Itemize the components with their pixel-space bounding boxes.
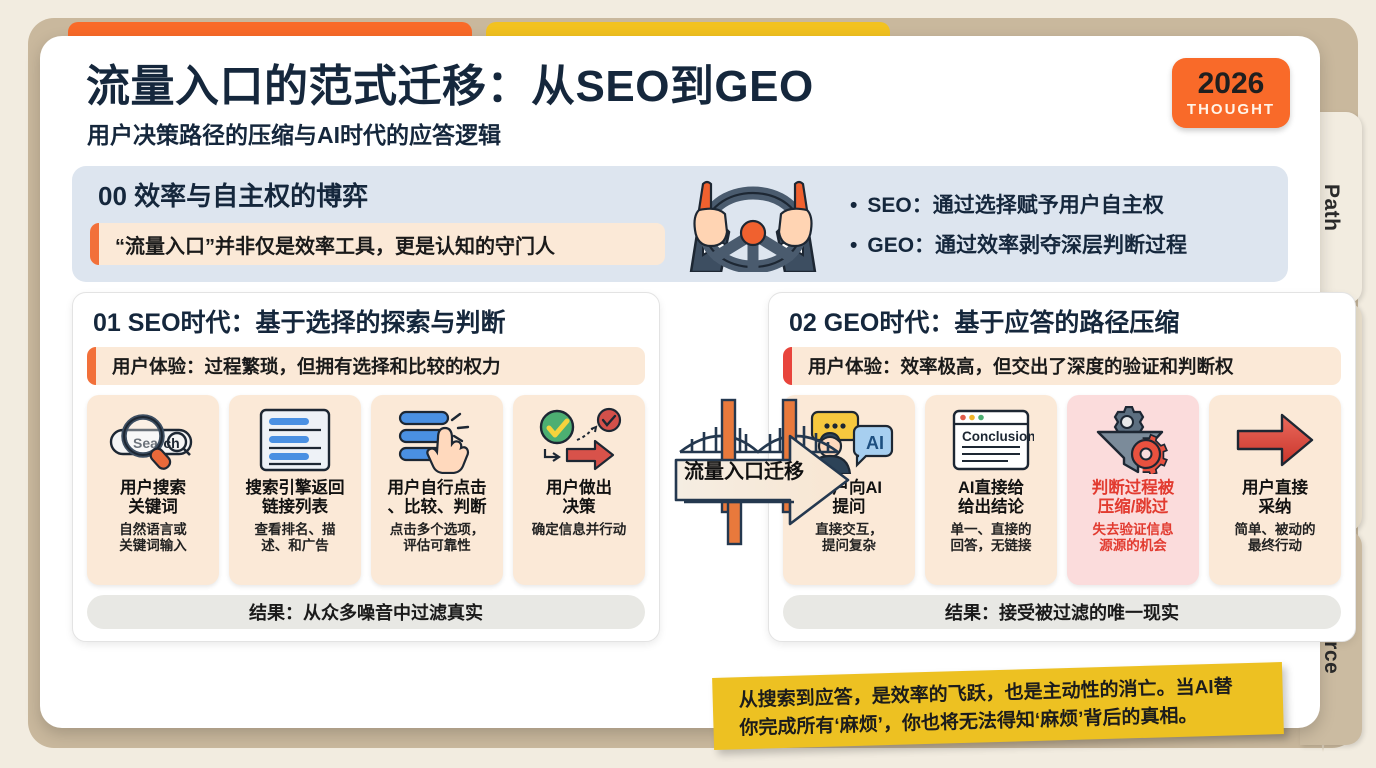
card-user-search[interactable]: Search 用户搜索关键词 自然语言或关键词输入 bbox=[87, 395, 219, 585]
click-hand-icon bbox=[394, 403, 480, 477]
card-desc: 简单、被动的最终行动 bbox=[1235, 522, 1316, 554]
search-magnifier-icon: Search bbox=[107, 403, 199, 477]
section-00-bullets: SEO：通过选择赋予用户自主权 GEO：通过效率剥夺深层判断过程 bbox=[840, 176, 1270, 272]
card-title: 用户做出决策 bbox=[546, 479, 612, 518]
section-02-title: 02 GEO时代：基于应答的路径压缩 bbox=[783, 303, 1341, 339]
badge-word: THOUGHT bbox=[1187, 101, 1275, 118]
section-01-title: 01 SEO时代：基于选择的探索与判断 bbox=[87, 303, 645, 339]
accent-bar bbox=[90, 223, 99, 265]
card-title: 用户直接采纳 bbox=[1242, 479, 1308, 518]
section-00: 00 效率与自主权的博弈 “流量入口”并非仅是效率工具，更是认知的守门人 bbox=[72, 166, 1288, 282]
year-badge: 2026 THOUGHT bbox=[1172, 58, 1290, 128]
transition-label: 流量入口迁移 bbox=[684, 455, 804, 484]
svg-text:Conclusion: Conclusion bbox=[962, 429, 1034, 444]
section-02-geo: 02 GEO时代：基于应答的路径压缩 用户体验：效率极高，但交出了深度的验证和判… bbox=[768, 292, 1356, 642]
badge-year: 2026 bbox=[1198, 69, 1265, 99]
card-judgment-compressed[interactable]: 判断过程被压缩/跳过 失去验证信息源源的机会 bbox=[1067, 395, 1199, 585]
section-01-result: 结果：从众多噪音中过滤真实 bbox=[87, 595, 645, 629]
check-arrow-icon bbox=[533, 403, 625, 477]
card-desc: 确定信息并行动 bbox=[532, 522, 627, 538]
card-desc: 查看排名、描述、和广告 bbox=[255, 522, 336, 554]
card-user-click-compare[interactable]: 用户自行点击、比较、判断 点击多个选项，评估可靠性 bbox=[371, 395, 503, 585]
card-results-list[interactable]: 搜索引擎返回链接列表 查看排名、描述、和广告 bbox=[229, 395, 361, 585]
card-ask-ai[interactable]: AI 用户向AI提问 直接交互，提问复杂 bbox=[783, 395, 915, 585]
section-02-highlight-text: 用户体验：效率极高，但交出了深度的验证和判断权 bbox=[792, 353, 1250, 379]
card-desc: 自然语言或关键词输入 bbox=[119, 522, 187, 554]
section-00-highlight-text: “流量入口”并非仅是效率工具，更是认知的守门人 bbox=[99, 230, 571, 259]
results-list-icon bbox=[253, 403, 337, 477]
section-00-highlight: “流量入口”并非仅是效率工具，更是认知的守门人 bbox=[90, 223, 665, 265]
section-01-seo: 01 SEO时代：基于选择的探索与判断 用户体验：过程繁琐，但拥有选择和比较的权… bbox=[72, 292, 660, 642]
section-01-highlight: 用户体验：过程繁琐，但拥有选择和比较的权力 bbox=[87, 347, 645, 385]
page-subtitle: 用户决策路径的压缩与AI时代的应答逻辑 bbox=[64, 111, 1296, 150]
section-01-highlight-text: 用户体验：过程繁琐，但拥有选择和比较的权力 bbox=[96, 353, 517, 379]
card-title: AI直接给给出结论 bbox=[958, 479, 1024, 518]
section-02-cards: AI 用户向AI提问 直接交互，提问复杂 bbox=[783, 395, 1341, 585]
red-arrow-icon bbox=[1232, 403, 1318, 477]
section-02-result: 结果：接受被过滤的唯一现实 bbox=[783, 595, 1341, 629]
accent-bar bbox=[783, 347, 792, 385]
section-02-highlight: 用户体验：效率极高，但交出了深度的验证和判断权 bbox=[783, 347, 1341, 385]
page-header: 流量入口的范式迁移：从SEO到GEO 用户决策路径的压缩与AI时代的应答逻辑 2… bbox=[64, 54, 1296, 162]
card-user-adopts[interactable]: 用户直接采纳 简单、被动的最终行动 bbox=[1209, 395, 1341, 585]
card-desc: 直接交互，提问复杂 bbox=[815, 522, 883, 554]
page-title: 流量入口的范式迁移：从SEO到GEO bbox=[64, 54, 1296, 111]
slide-page: 流量入口的范式迁移：从SEO到GEO 用户决策路径的压缩与AI时代的应答逻辑 2… bbox=[40, 36, 1320, 728]
card-user-decision[interactable]: 用户做出决策 确定信息并行动 bbox=[513, 395, 645, 585]
card-title: 用户搜索关键词 bbox=[120, 479, 186, 518]
card-desc: 失去验证信息源源的机会 bbox=[1093, 522, 1174, 554]
section-00-title: 00 效率与自主权的博弈 bbox=[90, 176, 665, 213]
conclusion-doc-icon: Conclusion bbox=[948, 403, 1034, 477]
section-00-bullet-geo: GEO：通过效率剥夺深层判断过程 bbox=[850, 229, 1270, 259]
funnel-gears-icon bbox=[1090, 403, 1176, 477]
section-00-left: 00 效率与自主权的博弈 “流量入口”并非仅是效率工具，更是认知的守门人 bbox=[90, 176, 665, 272]
card-desc: 单一、直接的回答，无链接 bbox=[951, 522, 1032, 554]
section-01-cards: Search 用户搜索关键词 自然语言或关键词输入 bbox=[87, 395, 645, 585]
card-desc: 点击多个选项，评估可靠性 bbox=[390, 522, 485, 554]
card-ai-conclusion[interactable]: Conclusion AI直接给给出结论 单一、直接的回答，无链接 bbox=[925, 395, 1057, 585]
steering-wheel-icon bbox=[673, 176, 833, 272]
comparison-columns: 01 SEO时代：基于选择的探索与判断 用户体验：过程繁琐，但拥有选择和比较的权… bbox=[72, 292, 1288, 642]
card-title: 用户向AI提问 bbox=[816, 479, 882, 518]
user-ai-chat-icon: AI bbox=[804, 403, 894, 477]
accent-bar bbox=[87, 347, 96, 385]
card-title: 搜索引擎返回链接列表 bbox=[246, 479, 345, 518]
steering-wheel-illustration bbox=[665, 176, 840, 272]
card-title: 判断过程被压缩/跳过 bbox=[1092, 479, 1175, 518]
side-tab-path-label: Path bbox=[1319, 184, 1343, 232]
section-00-bullet-seo: SEO：通过选择赋予用户自主权 bbox=[850, 189, 1270, 219]
svg-text:AI: AI bbox=[866, 433, 884, 453]
card-title: 用户自行点击、比较、判断 bbox=[388, 479, 487, 518]
